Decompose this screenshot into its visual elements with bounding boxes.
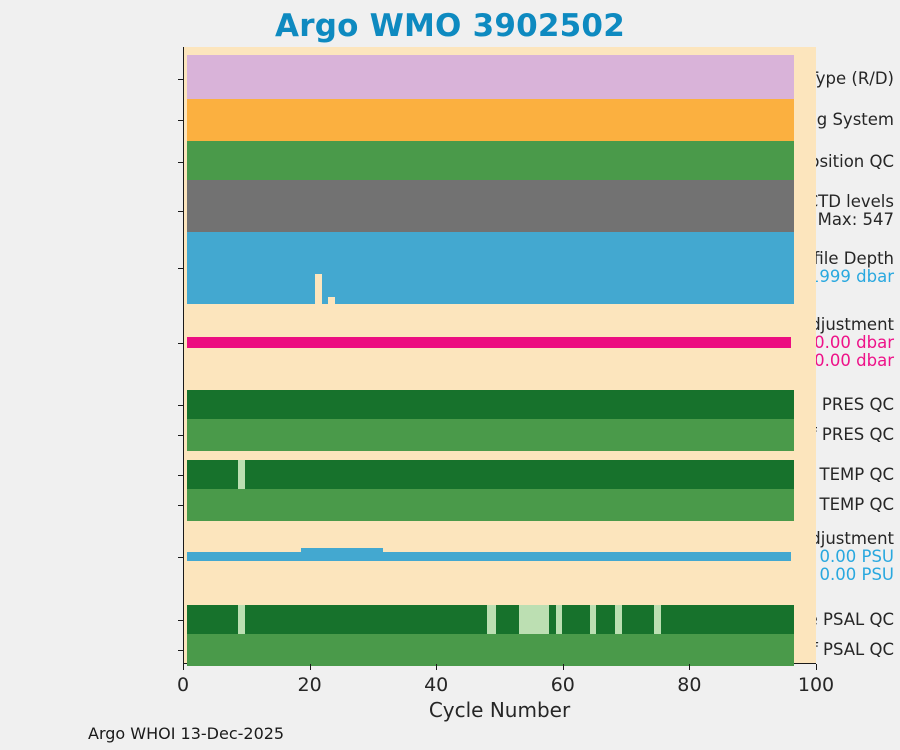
bar-mode-of-temp-qc bbox=[187, 489, 794, 521]
x-tick-label: 40 bbox=[424, 674, 448, 696]
x-tick-40 bbox=[436, 664, 437, 670]
x-tick-0 bbox=[183, 664, 184, 670]
y-tick-mode-of-temp-qc bbox=[178, 505, 184, 506]
bar-profile-psal-qc bbox=[519, 605, 549, 634]
y-tick-pres-adjustment bbox=[178, 343, 184, 344]
bar-profile-psal-qc bbox=[496, 605, 519, 634]
x-tick-label: 0 bbox=[177, 674, 189, 696]
profile-depth-notch-1 bbox=[315, 274, 322, 304]
x-tick-20 bbox=[310, 664, 311, 670]
y-tick-mode-of-pres-qc bbox=[178, 435, 184, 436]
bar-date-type bbox=[187, 55, 794, 103]
psal-adjustment-bump-1 bbox=[301, 548, 383, 552]
y-tick-profile-temp-qc bbox=[178, 475, 184, 476]
x-tick-60 bbox=[563, 664, 564, 670]
plot-canvas bbox=[184, 47, 816, 663]
x-tick-label: 100 bbox=[798, 674, 834, 696]
bar-mode-of-psal-qc bbox=[187, 634, 794, 666]
x-tick-label: 20 bbox=[298, 674, 322, 696]
bar-positioning-system bbox=[187, 99, 794, 141]
profile-depth-notch-2 bbox=[328, 297, 335, 304]
x-tick-label: 80 bbox=[677, 674, 701, 696]
y-tick-psal-adjustment bbox=[178, 557, 184, 558]
y-tick-mode-of-psal-qc bbox=[178, 650, 184, 651]
x-tick-80 bbox=[689, 664, 690, 670]
bar-position-qc bbox=[187, 141, 794, 183]
bar-profile-psal-qc bbox=[245, 605, 488, 634]
bar-psal-adjustment bbox=[187, 552, 791, 561]
bar-profile-psal-qc bbox=[562, 605, 590, 634]
bar-profile-psal-qc bbox=[661, 605, 794, 634]
page-title: Argo WMO 3902502 bbox=[0, 8, 900, 44]
y-tick-profile-psal-qc bbox=[178, 620, 184, 621]
y-tick-position-qc bbox=[178, 162, 184, 163]
y-tick-positioning-system bbox=[178, 120, 184, 121]
x-axis-title: Cycle Number bbox=[183, 698, 816, 722]
bar-profile-temp-qc bbox=[245, 460, 794, 489]
y-tick-date-type bbox=[178, 79, 184, 80]
bar-profile-psal-qc bbox=[487, 605, 495, 634]
x-tick-label: 60 bbox=[551, 674, 575, 696]
bar-pres-adjustment bbox=[187, 337, 791, 348]
bar-profile-depth bbox=[187, 232, 794, 304]
y-tick-profile-depth bbox=[178, 268, 184, 269]
bar-profile-psal-qc bbox=[187, 605, 238, 634]
bar-mode-of-pres-qc bbox=[187, 419, 794, 451]
bar-profile-psal-qc bbox=[596, 605, 615, 634]
bar-profile-psal-qc bbox=[549, 605, 556, 634]
y-tick-profile-pres-qc bbox=[178, 405, 184, 406]
y-tick-number-ctd-levels bbox=[178, 211, 184, 212]
bar-profile-psal-qc bbox=[622, 605, 654, 634]
bar-profile-psal-qc bbox=[615, 605, 622, 634]
plot-axes-area bbox=[183, 47, 816, 664]
bar-profile-pres-qc bbox=[187, 390, 794, 419]
bar-profile-temp-qc bbox=[187, 460, 238, 489]
x-tick-100 bbox=[816, 664, 817, 670]
footer-credit: Argo WHOI 13-Dec-2025 bbox=[88, 724, 284, 743]
